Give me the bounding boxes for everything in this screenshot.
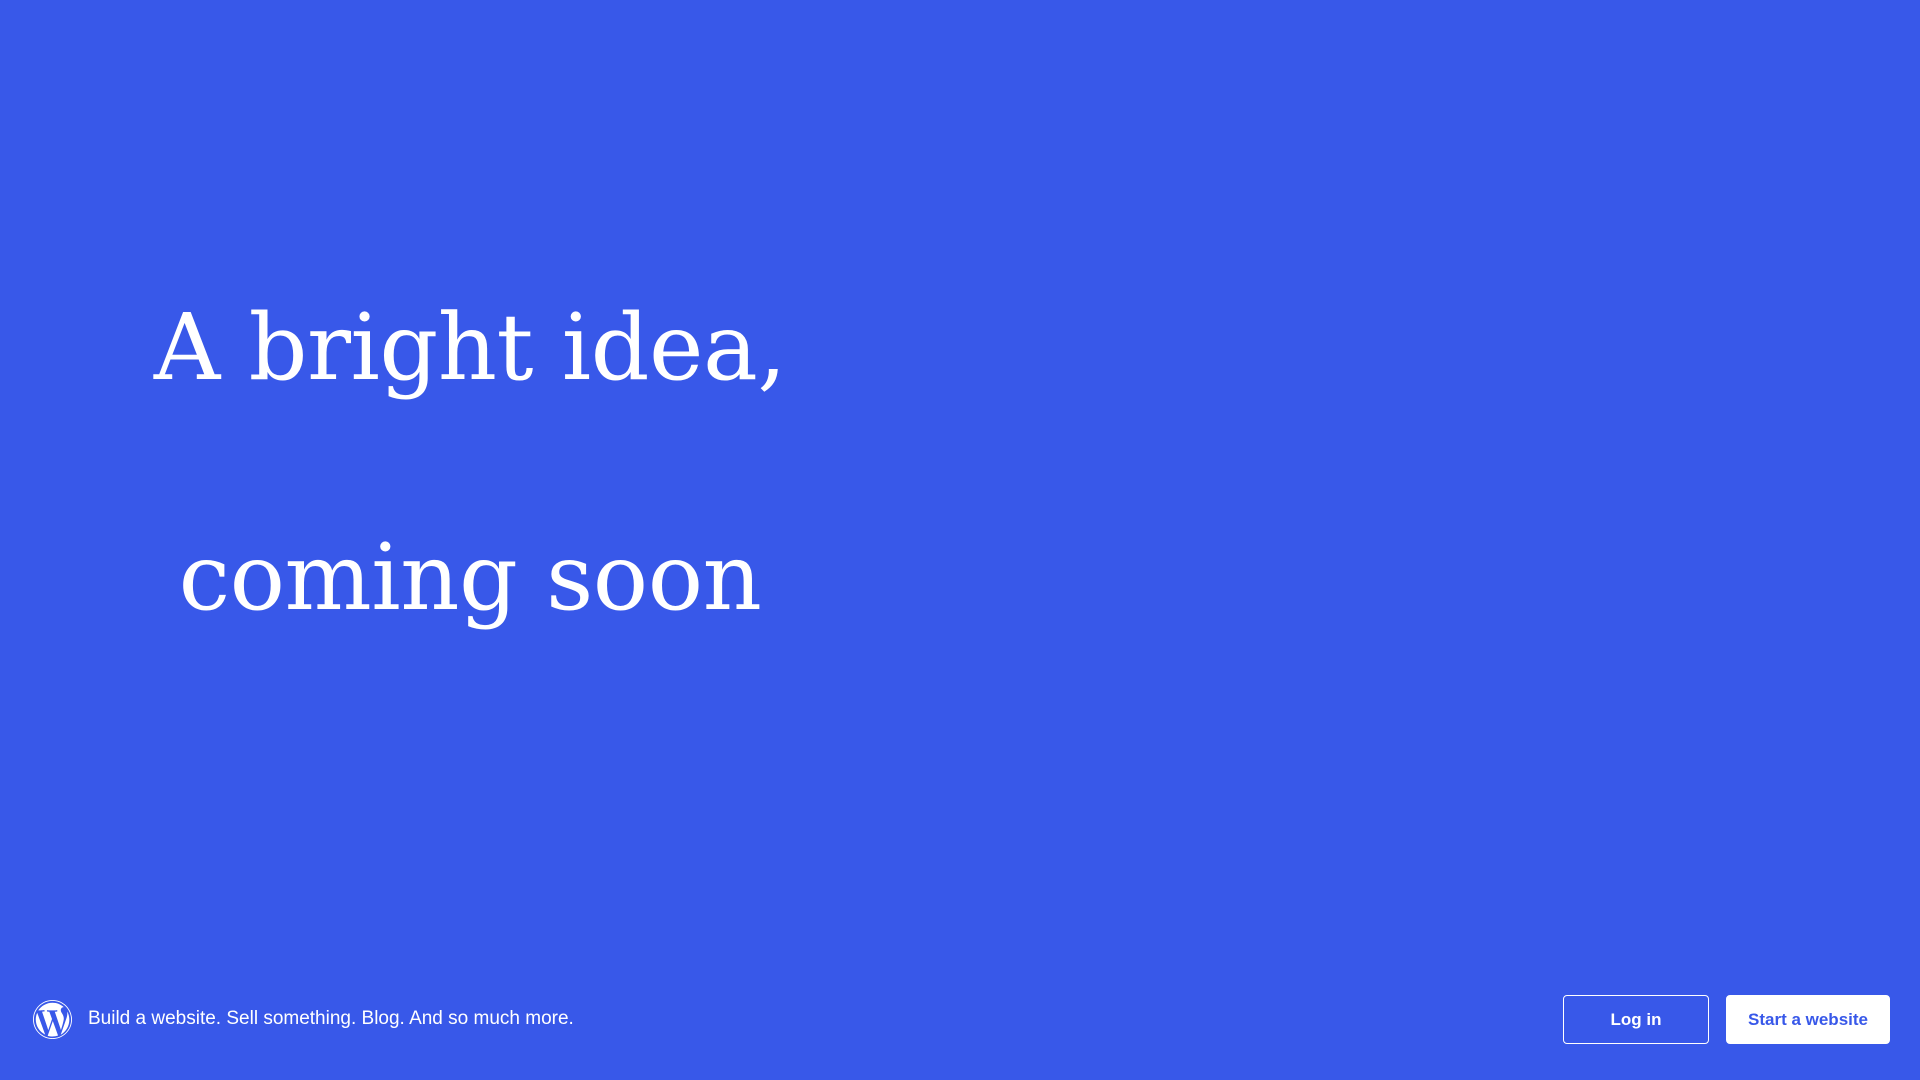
hero-content: A bright idea, coming soon — [0, 0, 940, 958]
page-title: A bright idea, coming soon — [154, 175, 786, 750]
wordpress-logo-link[interactable] — [33, 1000, 72, 1039]
coming-soon-page: A bright idea, coming soon Build a websi… — [0, 0, 1920, 1080]
footer-branding: Build a website. Sell something. Blog. A… — [33, 1000, 574, 1039]
hero-section: A bright idea, coming soon — [0, 0, 1920, 958]
footer-bar: Build a website. Sell something. Blog. A… — [0, 958, 1920, 1080]
headline-line-2: coming soon — [154, 520, 786, 635]
log-in-button[interactable]: Log in — [1563, 995, 1709, 1044]
headline-line-1: A bright idea, — [154, 290, 786, 405]
start-a-website-button[interactable]: Start a website — [1726, 995, 1890, 1044]
footer-tagline: Build a website. Sell something. Blog. A… — [88, 1008, 574, 1031]
wordpress-logo-icon — [33, 1000, 72, 1039]
footer-actions: Log in Start a website — [1563, 995, 1890, 1044]
